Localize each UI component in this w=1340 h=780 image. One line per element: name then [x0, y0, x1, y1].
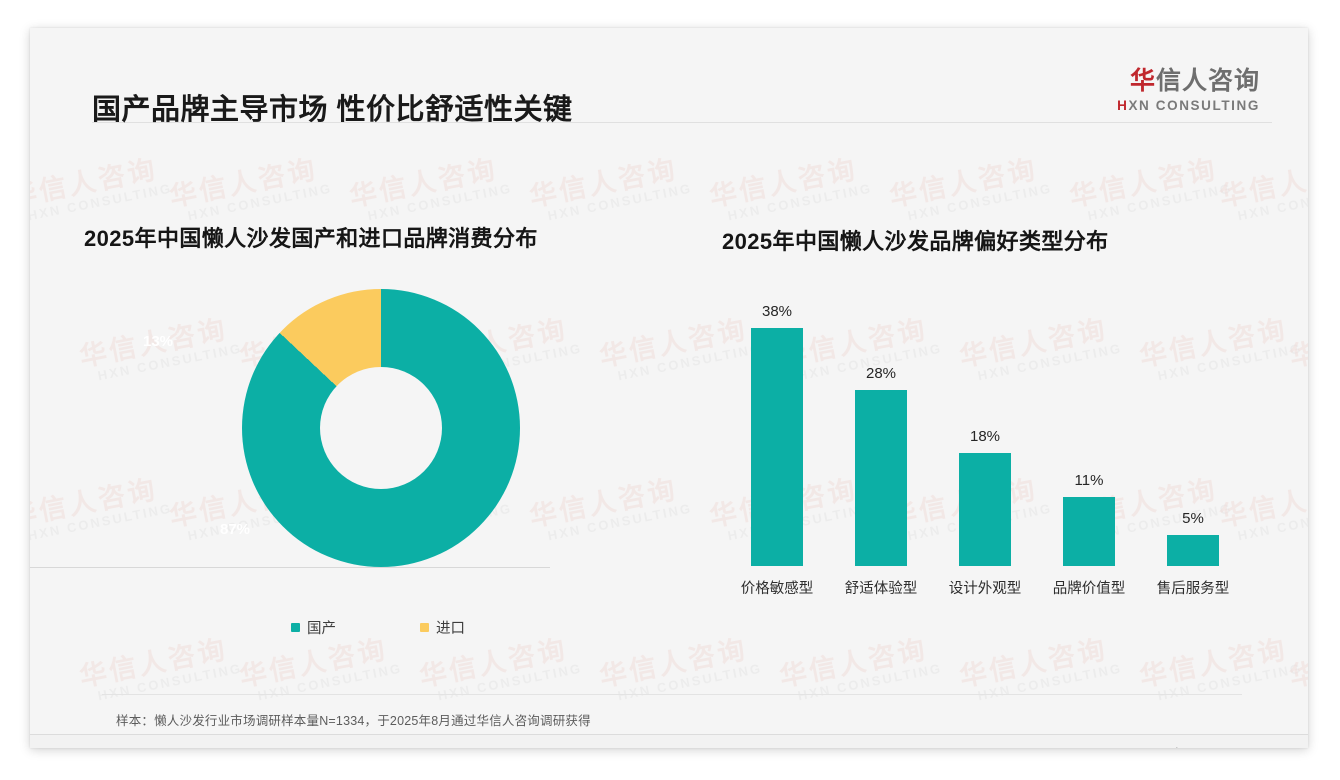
footnote-divider [102, 694, 1242, 695]
bar-category-label: 舒适体验型 [829, 577, 933, 598]
donut-chart-title: 2025年中国懒人沙发国产和进口品牌消费分布 [84, 221, 538, 253]
bar-category-label: 品牌价值型 [1037, 577, 1141, 598]
bar-item[interactable]: 38% [725, 290, 829, 566]
legend-swatch-icon [291, 623, 300, 632]
bar-chart: 38%28%18%11%5% [725, 290, 1245, 567]
bar-plot-area: 38%28%18%11%5% [725, 290, 1245, 566]
bar-rect[interactable] [959, 453, 1011, 566]
bar-value-label: 28% [866, 365, 896, 382]
slide-card: 华信人咨询HXN CONSULTING华信人咨询HXN CONSULTING华信… [30, 28, 1308, 748]
donut-hole [320, 367, 442, 489]
donut-legend: 国产 进口 [213, 617, 543, 638]
legend-label-guochan: 国产 [307, 617, 336, 638]
bar-rect[interactable] [855, 390, 907, 566]
bar-item[interactable]: 11% [1037, 290, 1141, 566]
bar-item[interactable]: 5% [1141, 290, 1245, 566]
logo-char-h: H [1117, 98, 1128, 113]
legend-swatch-icon [420, 623, 429, 632]
logo-english: HXN CONSULTING [1117, 98, 1260, 113]
bar-chart-category-labels: 价格敏感型舒适体验型设计外观型品牌价值型售后服务型 [725, 577, 1245, 598]
slide-header: 国产品牌主导市场 性价比舒适性关键 华信人咨询 HXN CONSULTING [30, 28, 1308, 122]
logo-chinese: 华信人咨询 [1117, 68, 1260, 96]
legend-item-guochan[interactable]: 国产 [291, 617, 336, 638]
bar-rect[interactable] [751, 328, 803, 566]
bar-item[interactable]: 28% [829, 290, 933, 566]
bar-value-label: 38% [762, 303, 792, 320]
bar-chart-title: 2025年中国懒人沙发品牌偏好类型分布 [722, 224, 1109, 256]
legend-item-jinkou[interactable]: 进口 [420, 617, 465, 638]
slide-content: 2025年中国懒人沙发国产和进口品牌消费分布 87% 13% 国产 进口 202… [30, 28, 1308, 748]
bar-category-label: 价格敏感型 [725, 577, 829, 598]
brand-logo: 华信人咨询 HXN CONSULTING [1117, 68, 1260, 113]
bar-category-label: 售后服务型 [1141, 577, 1245, 598]
donut-slice-label-guochan: 87% [220, 521, 250, 538]
bar-value-label: 18% [970, 428, 1000, 445]
logo-char-hua: 华 [1130, 67, 1156, 95]
bar-category-label: 设计外观型 [933, 577, 1037, 598]
bar-rect[interactable] [1167, 535, 1219, 566]
bar-value-label: 5% [1182, 510, 1204, 527]
bar-rect[interactable] [1063, 497, 1115, 566]
footnote-text: 样本：懒人沙发行业市场调研样本量N=1334，于2025年8月通过华信人咨询调研… [116, 710, 591, 729]
copyright-text: ©2025.10 HXR华信人咨询 [104, 745, 257, 748]
donut-slice-label-jinkou: 13% [143, 333, 173, 350]
page-title: 国产品牌主导市场 性价比舒适性关键 [92, 86, 573, 128]
logo-chinese-rest: 信人咨询 [1156, 67, 1260, 95]
bar-value-label: 11% [1075, 472, 1104, 489]
logo-english-rest: XN CONSULTING [1128, 98, 1260, 113]
bar-chart-axis-line [30, 567, 550, 568]
donut-chart [213, 278, 543, 588]
website-text: www.hxrcon.com [1146, 746, 1240, 748]
donut-ring [242, 289, 520, 567]
bar-item[interactable]: 18% [933, 290, 1037, 566]
legend-label-jinkou: 进口 [436, 617, 465, 638]
